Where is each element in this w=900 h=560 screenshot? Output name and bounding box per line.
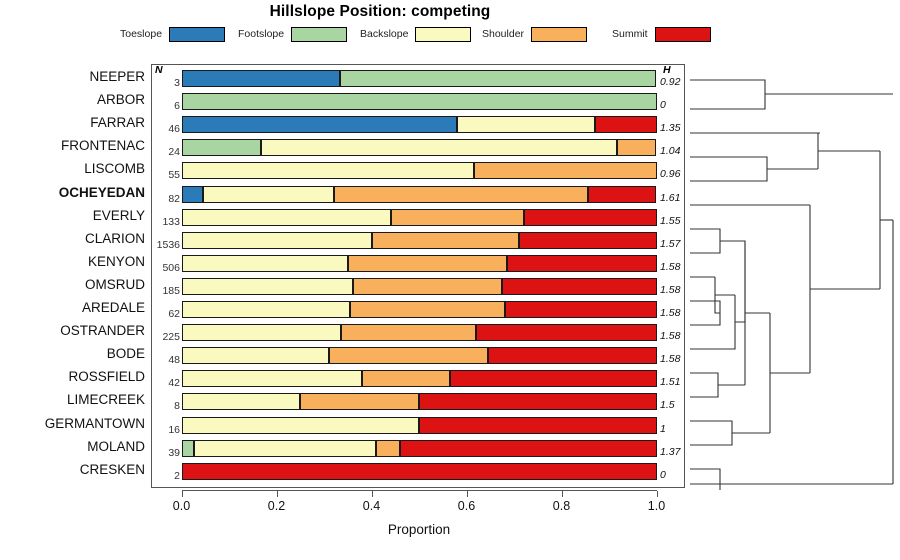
x-axis-tick-label: 0.0: [162, 499, 202, 513]
bar-segment-summit: [419, 417, 657, 434]
legend: ToeslopeFootslopeBackslopeShoulderSummit: [120, 25, 740, 43]
row-n-value: 55: [150, 169, 180, 181]
row-n-value: 3: [150, 77, 180, 89]
row-label: CRESKEN: [0, 462, 145, 477]
legend-swatch: [655, 27, 711, 42]
x-axis-tick: [182, 491, 183, 497]
bar-segment-backslope: [194, 440, 376, 457]
bar-segment-shoulder: [372, 232, 519, 249]
x-axis-tick-label: 0.6: [447, 499, 487, 513]
row-n-value: 62: [150, 308, 180, 320]
chart-root: Hillslope Position: competing ToeslopeFo…: [0, 0, 900, 560]
bar-segment-shoulder: [474, 162, 657, 179]
bar-segment-summit: [476, 324, 657, 341]
row-label: GERMANTOWN: [0, 416, 145, 431]
bar-segment-toeslope: [182, 186, 204, 203]
x-axis-tick-label: 0.8: [542, 499, 582, 513]
bar-segment-summit: [588, 186, 656, 203]
legend-item-summit: Summit: [612, 25, 711, 43]
legend-item-footslope: Footslope: [238, 25, 347, 43]
row-label: NEEPER: [0, 69, 145, 84]
row-n-value: 39: [150, 447, 180, 459]
x-axis-title: Proportion: [319, 522, 519, 537]
bar-segment-backslope: [182, 162, 474, 179]
row-n-value: 42: [150, 377, 180, 389]
stacked-bar: [182, 255, 657, 272]
row-n-value: 16: [150, 424, 180, 436]
dendrogram: [690, 60, 900, 490]
stacked-bar: [182, 116, 657, 133]
bar-segment-footslope: [340, 70, 657, 87]
legend-swatch: [169, 27, 225, 42]
bar-segment-backslope: [457, 116, 595, 133]
row-label: MOLAND: [0, 439, 145, 454]
row-n-value: 46: [150, 123, 180, 135]
stacked-bar: [182, 370, 657, 387]
row-label: LISCOMB: [0, 161, 145, 176]
stacked-bar: [182, 463, 657, 480]
stacked-bar: [182, 324, 657, 341]
row-label: OCHEYEDAN: [0, 185, 145, 200]
legend-item-shoulder: Shoulder: [482, 25, 587, 43]
bar-segment-toeslope: [182, 116, 458, 133]
chart-title: Hillslope Position: competing: [0, 3, 760, 21]
dendrogram-svg: [690, 60, 900, 490]
row-n-value: 24: [150, 146, 180, 158]
bar-segment-backslope: [182, 232, 372, 249]
legend-label: Shoulder: [482, 28, 524, 40]
row-n-value: 82: [150, 193, 180, 205]
stacked-bar: [182, 278, 657, 295]
bar-segment-summit: [502, 278, 656, 295]
bar-segment-summit: [488, 347, 657, 364]
n-column-header: N: [155, 64, 163, 76]
x-axis-tick: [277, 491, 278, 497]
stacked-bar: [182, 209, 657, 226]
bar-segment-shoulder: [353, 278, 503, 295]
bar-segment-shoulder: [617, 139, 656, 156]
legend-label: Summit: [612, 28, 648, 40]
stacked-bar: [182, 139, 657, 156]
row-label: BODE: [0, 346, 145, 361]
stacked-bar: [182, 417, 657, 434]
bar-segment-backslope: [182, 347, 329, 364]
bar-segment-backslope: [182, 393, 301, 410]
legend-label: Toeslope: [120, 28, 162, 40]
bar-segment-footslope: [182, 93, 657, 110]
bar-segment-summit: [519, 232, 657, 249]
x-axis-tick-label: 0.4: [352, 499, 392, 513]
row-n-value: 185: [150, 285, 180, 297]
row-label: OSTRANDER: [0, 323, 145, 338]
bar-segment-footslope: [182, 139, 261, 156]
stacked-bar: [182, 232, 657, 249]
row-label: EVERLY: [0, 208, 145, 223]
bar-segment-backslope: [182, 324, 341, 341]
row-label: AREDALE: [0, 300, 145, 315]
row-n-value: 48: [150, 354, 180, 366]
legend-label: Footslope: [238, 28, 284, 40]
bar-segment-backslope: [182, 301, 351, 318]
row-label: CLARION: [0, 231, 145, 246]
stacked-bar: [182, 301, 657, 318]
bar-segment-shoulder: [329, 347, 488, 364]
x-axis-tick-label: 0.2: [257, 499, 297, 513]
bar-segment-shoulder: [391, 209, 524, 226]
bar-segment-backslope: [182, 417, 420, 434]
bar-segment-shoulder: [341, 324, 476, 341]
bar-segment-summit: [505, 301, 657, 318]
stacked-bar: [182, 162, 657, 179]
bar-segment-backslope: [182, 209, 391, 226]
row-n-value: 2: [150, 470, 180, 482]
bar-segment-summit: [450, 370, 657, 387]
x-axis-tick: [372, 491, 373, 497]
bar-segment-summit: [400, 440, 657, 457]
stacked-bar: [182, 440, 657, 457]
x-axis-tick: [467, 491, 468, 497]
bar-segment-shoulder: [350, 301, 504, 318]
row-n-value: 133: [150, 216, 180, 228]
row-n-value: 225: [150, 331, 180, 343]
stacked-bar: [182, 70, 657, 87]
x-axis-tick-label: 1.0: [637, 499, 677, 513]
x-axis-line: [182, 490, 657, 491]
legend-swatch: [291, 27, 347, 42]
bar-segment-backslope: [182, 370, 363, 387]
row-label: KENYON: [0, 254, 145, 269]
bar-segment-summit: [524, 209, 657, 226]
row-n-value: 6: [150, 100, 180, 112]
stacked-bar: [182, 393, 657, 410]
legend-item-toeslope: Toeslope: [120, 25, 225, 43]
bar-segment-shoulder: [376, 440, 400, 457]
bar-segment-backslope: [261, 139, 617, 156]
bar-segment-footslope: [182, 440, 194, 457]
row-label: LIMECREEK: [0, 392, 145, 407]
x-axis-tick: [562, 491, 563, 497]
bar-segment-toeslope: [182, 70, 340, 87]
bar-segment-shoulder: [348, 255, 507, 272]
row-label: FARRAR: [0, 115, 145, 130]
row-n-value: 8: [150, 400, 180, 412]
stacked-bar: [182, 186, 657, 203]
bar-segment-shoulder: [300, 393, 419, 410]
h-column-header: H: [663, 64, 671, 76]
row-label: ARBOR: [0, 92, 145, 107]
row-n-value: 506: [150, 262, 180, 274]
legend-swatch: [531, 27, 587, 42]
row-label: FRONTENAC: [0, 138, 145, 153]
bar-segment-backslope: [182, 255, 348, 272]
stacked-bar: [182, 93, 657, 110]
bar-segment-summit: [595, 116, 657, 133]
bar-segment-summit: [182, 463, 657, 480]
legend-item-backslope: Backslope: [360, 25, 471, 43]
bar-segment-backslope: [203, 186, 334, 203]
stacked-bar: [182, 347, 657, 364]
bar-segment-summit: [419, 393, 657, 410]
row-label: OMSRUD: [0, 277, 145, 292]
x-axis-tick: [657, 491, 658, 497]
row-label: ROSSFIELD: [0, 369, 145, 384]
legend-swatch: [415, 27, 471, 42]
bar-segment-summit: [507, 255, 657, 272]
bar-segment-shoulder: [362, 370, 450, 387]
bar-segment-backslope: [182, 278, 353, 295]
row-n-value: 1536: [150, 239, 180, 251]
legend-label: Backslope: [360, 28, 408, 40]
bar-segment-shoulder: [334, 186, 588, 203]
